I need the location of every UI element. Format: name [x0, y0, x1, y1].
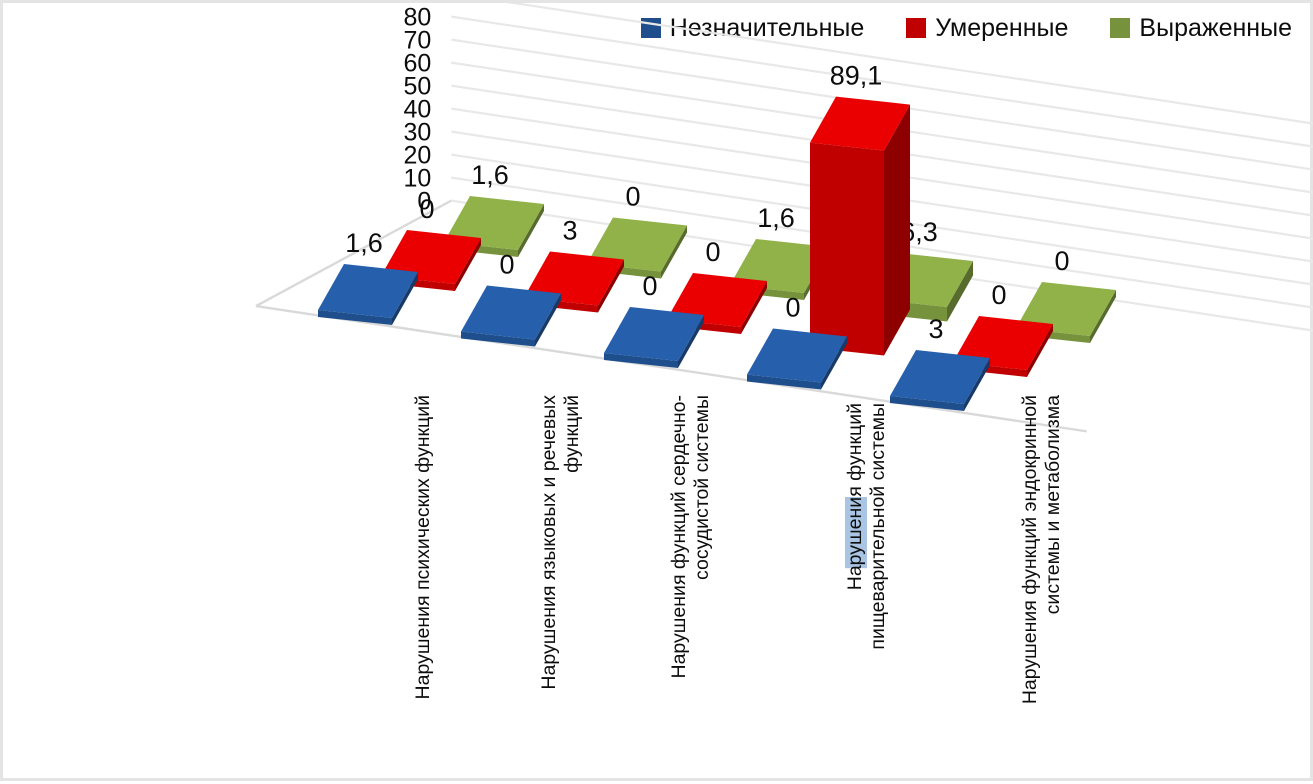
x-axis-label-line: сосудистой системы [691, 395, 713, 580]
x-axis-label-line: Нарушения функций эндокринной [1019, 395, 1041, 704]
bar-1-3[interactable] [810, 97, 910, 356]
x-axis-label-line: системы и метаболизма [1042, 395, 1064, 614]
bar-value-label: 1,6 [345, 228, 383, 258]
chart-plot-area: 9080706050403020100 1,601,66,3003089,101… [3, 3, 1313, 784]
x-axis-label-1[interactable]: функций [561, 395, 583, 473]
bar-value-label: 0 [642, 271, 657, 301]
bar-value-label: 3 [562, 216, 577, 246]
x-axis-label-line: Нарушения языковых и речевых [538, 395, 560, 690]
bar-value-label: 0 [785, 293, 800, 323]
x-axis-label-3[interactable]: Нарушения функций [844, 403, 867, 590]
bar-value-label: 1,6 [757, 203, 795, 233]
bar-value-label: 0 [705, 237, 720, 267]
bar-value-label: 3 [928, 314, 943, 344]
x-axis-label-2[interactable]: сосудистой системы [691, 395, 713, 580]
x-axis-label-line: функций [561, 395, 583, 473]
x-axis-label-1[interactable]: Нарушения языковых и речевых [538, 395, 560, 690]
x-axis-label-2[interactable]: Нарушения функций сердечно- [668, 395, 690, 679]
x-axis-label-4[interactable]: Нарушения функций эндокринной [1019, 395, 1041, 704]
chart-frame: Незначительные Умеренные Выраженные 9080… [0, 0, 1313, 781]
bar-value-label: 0 [1054, 246, 1069, 276]
bar-value-label: 0 [499, 250, 514, 280]
bar-value-label: 1,6 [471, 160, 509, 190]
x-axis-label-line: Нарушения функций сердечно- [668, 395, 690, 679]
x-axis-label-4[interactable]: системы и метаболизма [1042, 395, 1064, 614]
x-axis-label-line: Нарушения психических функций [412, 395, 434, 699]
x-axis-label-0[interactable]: Нарушения психических функций [412, 395, 434, 699]
x-axis-label-3[interactable]: пищеварительной системы [867, 403, 889, 650]
bar-value-label: 0 [625, 182, 640, 212]
x-axis-label-line: пищеварительной системы [867, 403, 889, 650]
y-axis-ticks: 9080706050403020100 [403, 3, 431, 216]
x-axis-label-line: Нарушения функций [844, 403, 866, 590]
x-axis-category-labels: Нарушения психических функцийНарушения я… [412, 395, 1064, 704]
bar-value-label: 89,1 [830, 61, 883, 91]
bar-value-label: 0 [991, 280, 1006, 310]
bar-value-label: 0 [419, 194, 434, 224]
